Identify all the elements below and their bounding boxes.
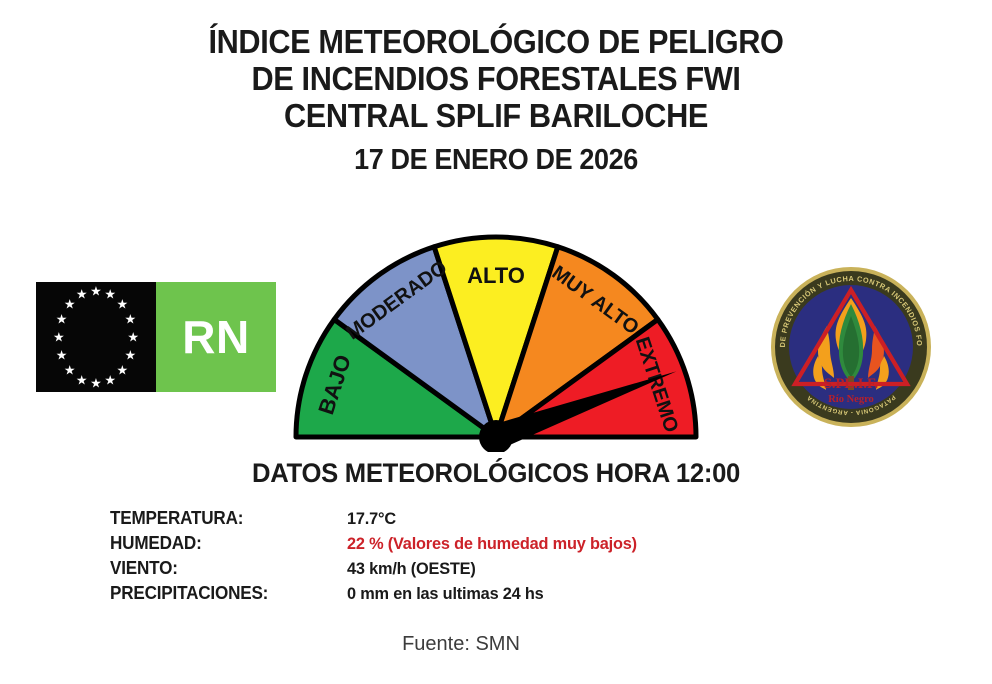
star-icon: ★ <box>76 373 88 386</box>
data-row: TEMPERATURA:17.7°C <box>110 508 870 533</box>
gauge-segment-label: ALTO <box>467 263 525 288</box>
rn-green-panel: RN <box>156 282 276 392</box>
star-icon: ★ <box>127 331 139 344</box>
fwi-gauge-chart: BAJOMODERADOALTOMUY ALTOEXTREMO <box>286 222 706 452</box>
star-icon: ★ <box>116 363 128 376</box>
title-date: 17 DE ENERO DE 2026 <box>35 144 958 176</box>
datos-heading: DATOS METEOROLÓGICOS HORA 12:00 <box>25 458 967 489</box>
data-value: 17.7°C <box>347 509 396 529</box>
star-icon: ★ <box>90 284 102 297</box>
data-row: HUMEDAD:22 % (Valores de humedad muy baj… <box>110 533 870 558</box>
star-icon: ★ <box>56 313 68 326</box>
star-icon: ★ <box>104 373 116 386</box>
star-icon: ★ <box>125 348 137 361</box>
source-label: Fuente: SMN <box>402 633 520 655</box>
data-label: PRECIPITACIONES: <box>110 583 335 604</box>
data-row: VIENTO:43 km/h (OESTE) <box>110 558 870 583</box>
data-value: 22 % (Valores de humedad muy bajos) <box>347 534 637 554</box>
title-line-3: CENTRAL SPLIF BARILOCHE <box>35 98 958 135</box>
page-title: ÍNDICE METEOROLÓGICO DE PELIGRO DE INCEN… <box>0 24 992 176</box>
star-icon: ★ <box>125 313 137 326</box>
rio-negro-logo: ★★★★★★★★★★★★★★★★ RN <box>36 282 276 392</box>
star-icon: ★ <box>104 288 116 301</box>
fwi-report-page: ÍNDICE METEOROLÓGICO DE PELIGRO DE INCEN… <box>0 0 992 684</box>
splif-logo: SERVICIO DE PREVENCIÓN Y LUCHA CONTRA IN… <box>768 264 934 430</box>
star-icon: ★ <box>56 348 68 361</box>
weather-data-table: TEMPERATURA:17.7°CHUMEDAD:22 % (Valores … <box>110 508 870 608</box>
star-icon: ★ <box>76 288 88 301</box>
star-icon: ★ <box>53 331 65 344</box>
data-value: 43 km/h (OESTE) <box>347 559 476 579</box>
star-icon: ★ <box>64 363 76 376</box>
data-label: HUMEDAD: <box>110 533 335 554</box>
data-label: TEMPERATURA: <box>110 508 335 529</box>
data-label: VIENTO: <box>110 558 335 579</box>
svg-text:Río Negro: Río Negro <box>828 394 874 405</box>
data-row: PRECIPITACIONES:0 mm en las ultimas 24 h… <box>110 583 870 608</box>
title-line-2: DE INCENDIOS FORESTALES FWI <box>35 61 958 98</box>
footer: Fuente: SMN <box>0 633 992 656</box>
title-line-1: ÍNDICE METEOROLÓGICO DE PELIGRO <box>35 24 958 61</box>
rn-logo-label: RN <box>182 310 249 364</box>
stars-ring-icon: ★★★★★★★★★★★★★★★★ <box>36 282 156 392</box>
svg-text:S.PL.I.F.: S.PL.I.F. <box>824 376 878 392</box>
star-icon: ★ <box>90 377 102 390</box>
data-value: 0 mm en las ultimas 24 hs <box>347 584 544 604</box>
star-icon: ★ <box>64 298 76 311</box>
star-icon: ★ <box>116 298 128 311</box>
